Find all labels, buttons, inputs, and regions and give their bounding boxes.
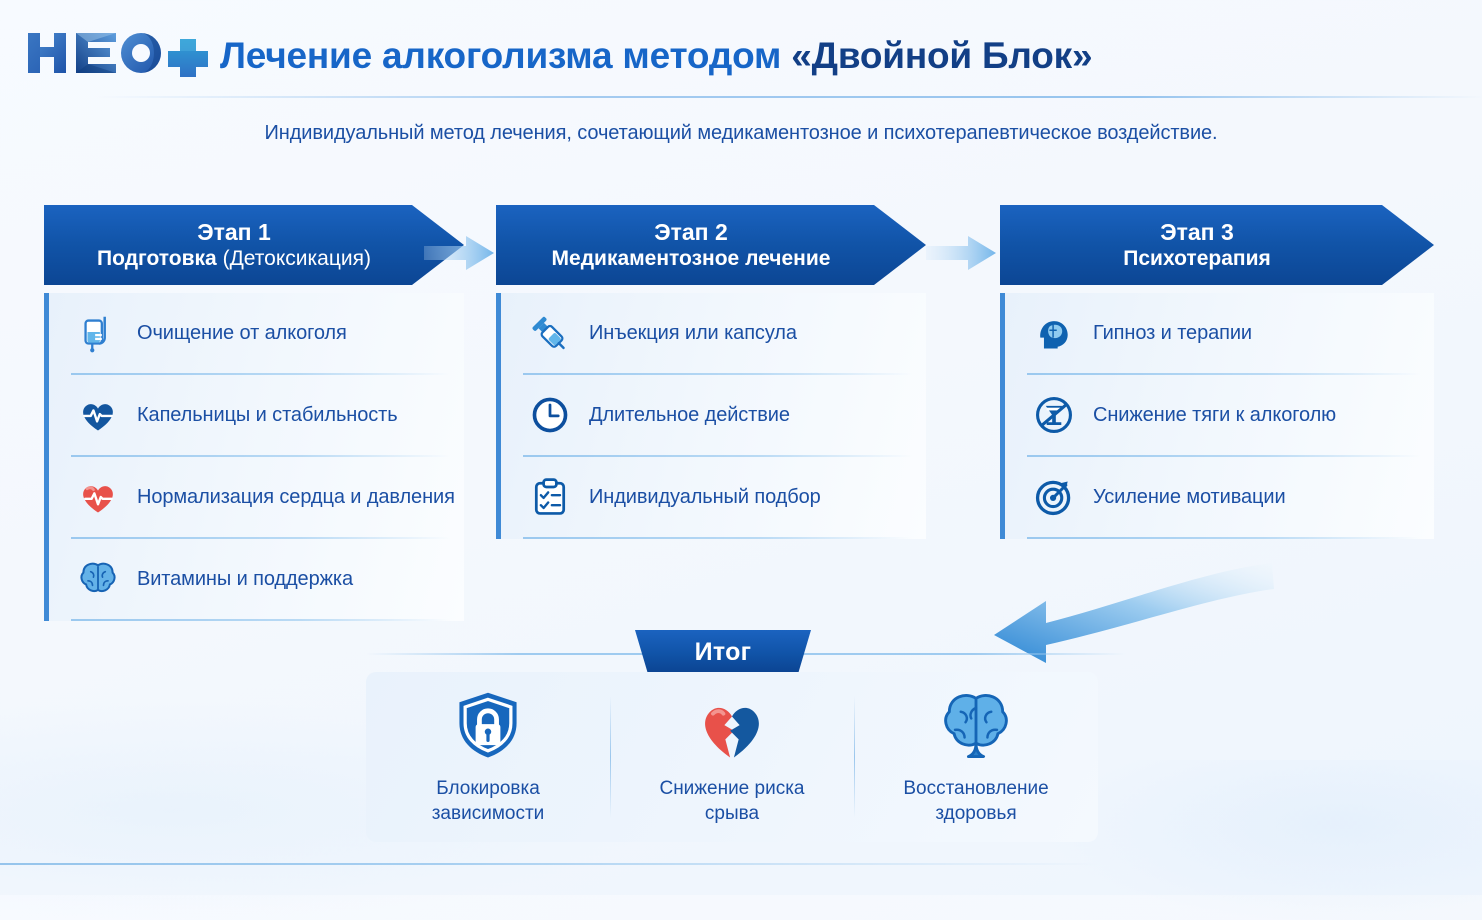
- stage-card-3: Этап 3 Психотерапия Гипноз и терапии: [1000, 205, 1434, 539]
- result-item-label: Восстановление здоровья: [903, 776, 1048, 826]
- iv-drip-icon: [75, 310, 121, 356]
- result-label-line1: Восстановление: [903, 778, 1048, 799]
- stage-2-title: Медикаментозное лечение: [552, 246, 831, 272]
- stage-3-title-bold: Психотерапия: [1123, 247, 1270, 270]
- stage-card-2: Этап 2 Медикаментозное лечение: [496, 205, 926, 539]
- result-banner: Итог: [635, 630, 811, 674]
- result-item-label: Блокировка зависимости: [432, 776, 545, 826]
- stage-3-number: Этап 3: [1160, 219, 1234, 246]
- result-label-line2: срыва: [705, 803, 759, 824]
- stage-1-header: Этап 1 Подготовка (Детоксикация): [44, 205, 464, 285]
- title-part-2: методом: [622, 35, 781, 76]
- target-arrow-icon: [1031, 474, 1077, 520]
- stage-3-header: Этап 3 Психотерапия: [1000, 205, 1434, 285]
- list-item[interactable]: Гипноз и терапии: [1005, 293, 1434, 373]
- list-item[interactable]: Индивидуальный подбор: [501, 457, 926, 537]
- list-item-label: Гипноз и терапии: [1093, 322, 1252, 345]
- list-item-label: Капельницы и стабильность: [137, 404, 398, 427]
- brain-icon: [75, 556, 121, 602]
- list-item-label: Усиление мотивации: [1093, 486, 1286, 509]
- item-divider: [523, 537, 912, 539]
- stage-2-number: Этап 2: [654, 219, 728, 246]
- broken-heart-icon: [690, 688, 774, 766]
- stage-3-title: Психотерапия: [1123, 246, 1270, 272]
- heart-pulse-blue-icon: [75, 392, 121, 438]
- list-item-label: Длительное действие: [589, 404, 790, 427]
- list-item-label: Инъекция или капсула: [589, 322, 797, 345]
- result-label-line2: здоровья: [935, 803, 1016, 824]
- item-divider: [71, 619, 450, 621]
- list-item-label: Нормализация сердца и давления: [137, 486, 455, 509]
- result-item-2[interactable]: Снижение риска срыва: [610, 672, 854, 842]
- result-item-label: Снижение риска срыва: [659, 776, 804, 826]
- brain-icon: [934, 688, 1018, 766]
- header: Лечение алкоголизма методом «Двойной Бло…: [0, 0, 1482, 97]
- result-card: Блокировка зависимости Снижение риска ср…: [366, 672, 1098, 842]
- heart-pulse-red-icon: [75, 474, 121, 520]
- list-item[interactable]: Витамины и поддержка: [49, 539, 464, 619]
- page-title: Лечение алкоголизма методом «Двойной Бло…: [220, 30, 1092, 82]
- list-item[interactable]: Инъекция или капсула: [501, 293, 926, 373]
- stage-card-1: Этап 1 Подготовка (Детоксикация): [44, 205, 464, 621]
- list-item-label: Снижение тяги к алкоголю: [1093, 404, 1336, 427]
- stage-2-title-bold: Медикаментозное лечение: [552, 247, 831, 270]
- clipboard-checklist-icon: [527, 474, 573, 520]
- shield-lock-icon: [446, 688, 530, 766]
- neo-plus-logo: [24, 27, 210, 77]
- list-item-label: Индивидуальный подбор: [589, 486, 821, 509]
- list-item-label: Витамины и поддержка: [137, 568, 353, 591]
- head-brain-icon: [1031, 310, 1077, 356]
- list-item-label: Очищение от алкоголя: [137, 322, 347, 345]
- list-item[interactable]: Очищение от алкоголя: [49, 293, 464, 373]
- arrow-right-icon: [424, 230, 496, 276]
- stage-1-body: Очищение от алкоголя Капельницы и стабил…: [44, 293, 464, 621]
- stage-1-title: Подготовка (Детоксикация): [97, 246, 371, 272]
- curved-arrow-left-icon: [984, 545, 1274, 665]
- clock-icon: [527, 392, 573, 438]
- item-divider: [1027, 537, 1420, 539]
- list-item[interactable]: Снижение тяги к алкоголю: [1005, 375, 1434, 455]
- list-item[interactable]: Нормализация сердца и давления: [49, 457, 464, 537]
- title-part-3: «Двойной Блок»: [791, 35, 1092, 76]
- stage-2-body: Инъекция или капсула Длительное действие: [496, 293, 926, 539]
- stage-3-body: Гипноз и терапии Снижение тяги к алкогол…: [1000, 293, 1434, 539]
- result-label-line1: Блокировка: [436, 778, 540, 799]
- stage-1-number: Этап 1: [197, 219, 271, 246]
- arrow-right-icon: [926, 230, 998, 276]
- subtitle: Индивидуальный метод лечения, сочетающий…: [0, 122, 1482, 145]
- result-item-1[interactable]: Блокировка зависимости: [366, 672, 610, 842]
- list-item[interactable]: Усиление мотивации: [1005, 457, 1434, 537]
- footer-divider: [0, 863, 1100, 865]
- list-item[interactable]: Длительное действие: [501, 375, 926, 455]
- result-label-line2: зависимости: [432, 803, 545, 824]
- result-label-line1: Снижение риска: [659, 778, 804, 799]
- stage-1-title-soft: (Детоксикация): [223, 247, 371, 270]
- syringe-icon: [527, 310, 573, 356]
- stage-2-header: Этап 2 Медикаментозное лечение: [496, 205, 926, 285]
- no-alcohol-glass-icon: [1031, 392, 1077, 438]
- title-part-1: Лечение алкоголизма: [220, 35, 612, 76]
- stage-1-title-bold: Подготовка: [97, 247, 217, 270]
- background-wash-right: [1050, 760, 1482, 920]
- list-item[interactable]: Капельницы и стабильность: [49, 375, 464, 455]
- infographic-canvas: Лечение алкоголизма методом «Двойной Бло…: [0, 0, 1482, 895]
- result-item-3[interactable]: Восстановление здоровья: [854, 672, 1098, 842]
